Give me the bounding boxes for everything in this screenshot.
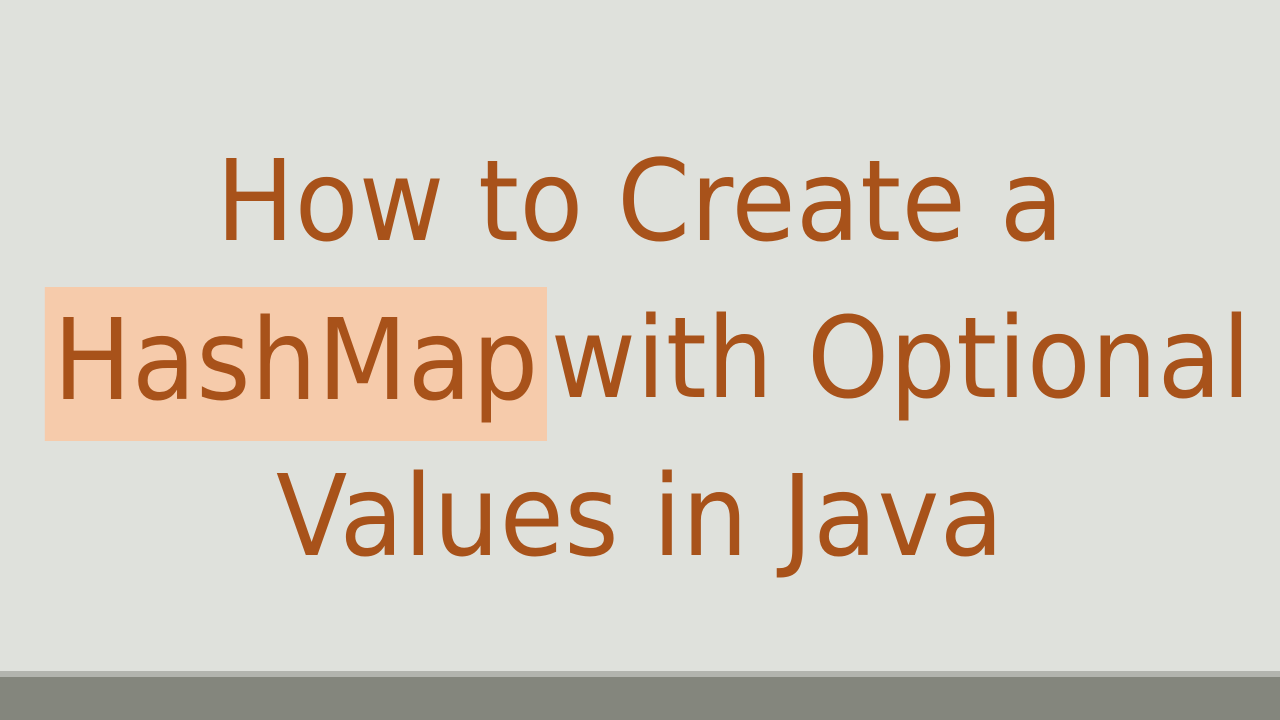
highlighted-keyword: HashMap bbox=[45, 287, 547, 441]
title-line-3-text: Values in Java bbox=[276, 439, 1004, 596]
video-control-bar[interactable] bbox=[0, 677, 1280, 720]
title-line-2: HashMap with Optional bbox=[45, 281, 1235, 439]
title-line-1-text: How to Create a bbox=[216, 124, 1064, 281]
title-slide: How to Create a HashMap with Optional Va… bbox=[0, 0, 1280, 720]
title-line-1: How to Create a bbox=[45, 124, 1235, 281]
title-line-2-text: with Optional bbox=[551, 281, 1252, 438]
title-line-3: Values in Java bbox=[45, 439, 1235, 596]
title-text-block: How to Create a HashMap with Optional Va… bbox=[0, 0, 1280, 640]
